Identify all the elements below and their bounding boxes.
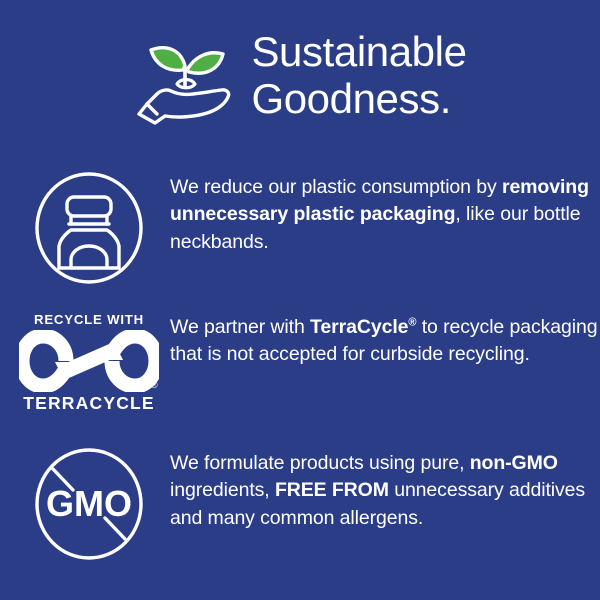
bottle-neckband-circle-icon bbox=[33, 172, 145, 284]
hand-holding-sprout-icon bbox=[133, 28, 237, 132]
feature-row-nongmo-text: We formulate products using pure, non-GM… bbox=[170, 448, 600, 532]
row-3-icon-wrap: GMO bbox=[0, 448, 170, 560]
row-2-icon-wrap: RECYCLE WITH ® TERRACYCLE bbox=[0, 312, 170, 414]
terracycle-bottom-label: TERRACYCLE bbox=[23, 393, 155, 414]
no-gmo-icon: GMO bbox=[33, 448, 145, 560]
feature-row-nongmo: GMO We formulate products using pure, no… bbox=[0, 448, 600, 560]
terracycle-infinity-arrows-icon: ® bbox=[19, 330, 159, 392]
text-seg-bold: TerraCycle bbox=[310, 316, 408, 338]
text-seg: We reduce our plastic consumption by bbox=[170, 176, 502, 198]
sustainable-goodness-panel: Sustainable Goodness. We reduce our plas… bbox=[0, 0, 600, 600]
row-1-icon-wrap bbox=[0, 172, 170, 284]
text-seg: We partner with bbox=[170, 316, 310, 338]
feature-row-terracycle-text: We partner with TerraCycle® to recycle p… bbox=[170, 312, 600, 369]
no-gmo-label: GMO bbox=[46, 483, 132, 524]
page-title: Sustainable Goodness. bbox=[251, 24, 466, 122]
feature-row-plastic-text: We reduce our plastic consumption by rem… bbox=[170, 172, 600, 256]
terracycle-top-label: RECYCLE WITH bbox=[34, 312, 144, 327]
text-seg-bold: non-GMO bbox=[470, 452, 558, 474]
text-seg: ingredients, bbox=[170, 479, 275, 501]
feature-row-terracycle: RECYCLE WITH ® TERRACYCLE We pa bbox=[0, 312, 600, 414]
text-seg-bold: FREE FROM bbox=[275, 479, 389, 501]
feature-row-plastic: We reduce our plastic consumption by rem… bbox=[0, 172, 600, 284]
text-seg: We formulate products using pure, bbox=[170, 452, 470, 474]
terracycle-logo: RECYCLE WITH ® TERRACYCLE bbox=[14, 312, 164, 414]
header: Sustainable Goodness. bbox=[0, 24, 600, 132]
registered-mark: ® bbox=[151, 380, 158, 390]
